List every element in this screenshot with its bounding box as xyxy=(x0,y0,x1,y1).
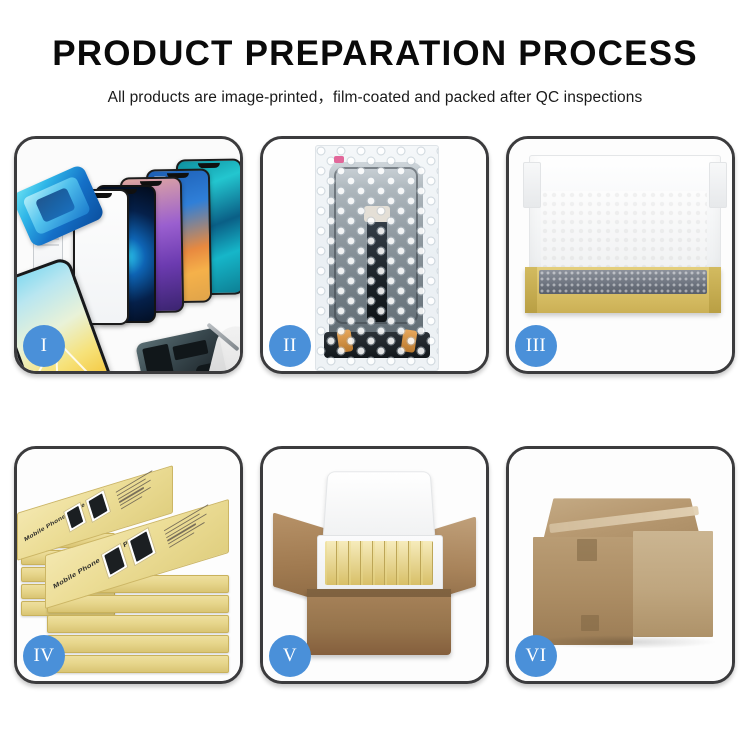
bubble-texture xyxy=(316,146,438,370)
step-badge-3: III xyxy=(515,325,557,367)
step-badge-4: IV xyxy=(23,635,65,677)
step-panel-4[interactable]: Mobile Phone Spare Parts Mobile Phone Sp… xyxy=(14,446,243,684)
carton-tab-lower xyxy=(581,615,599,631)
step-badge-2: II xyxy=(269,325,311,367)
packed-yellow-boxes xyxy=(325,541,433,585)
white-foam-sheet xyxy=(541,191,707,269)
step-panel-3[interactable]: III xyxy=(506,136,735,374)
header: PRODUCT PREPARATION PROCESS All products… xyxy=(0,0,750,107)
retail-box-window-back-2 xyxy=(85,489,111,523)
steps-grid: I II xyxy=(14,136,736,684)
grey-bubble-wrap-insert xyxy=(539,270,707,294)
pink-qc-sticker xyxy=(334,156,344,163)
shipping-carton-open xyxy=(307,589,451,655)
step-badge-1: I xyxy=(23,325,65,367)
carton-side-face xyxy=(633,531,713,637)
retail-box-specs-back xyxy=(116,468,163,512)
retail-box-window-front-2 xyxy=(126,527,156,566)
step-panel-2[interactable]: II xyxy=(260,136,489,374)
step-panel-1[interactable]: I xyxy=(14,136,243,374)
step-panel-6[interactable]: VI xyxy=(506,446,735,684)
retail-box-front-4 xyxy=(47,635,229,653)
page-title: PRODUCT PREPARATION PROCESS xyxy=(0,36,750,71)
step-badge-6: VI xyxy=(515,635,557,677)
carton-tab-upper xyxy=(577,539,597,561)
retail-box-front-3 xyxy=(47,615,229,633)
kraft-box-tray xyxy=(525,267,721,313)
carton-shadow xyxy=(529,635,717,649)
retail-box-front-5 xyxy=(47,655,229,673)
step-panel-5[interactable]: V xyxy=(260,446,489,684)
bubble-wrap-bag xyxy=(315,145,439,371)
step-badge-5: V xyxy=(269,635,311,677)
sealed-carton xyxy=(527,475,717,647)
page-subtitle: All products are image-printed，film-coat… xyxy=(0,85,750,107)
foam-box-lid xyxy=(322,471,435,542)
product-preparation-infographic: PRODUCT PREPARATION PROCESS All products… xyxy=(0,0,750,750)
